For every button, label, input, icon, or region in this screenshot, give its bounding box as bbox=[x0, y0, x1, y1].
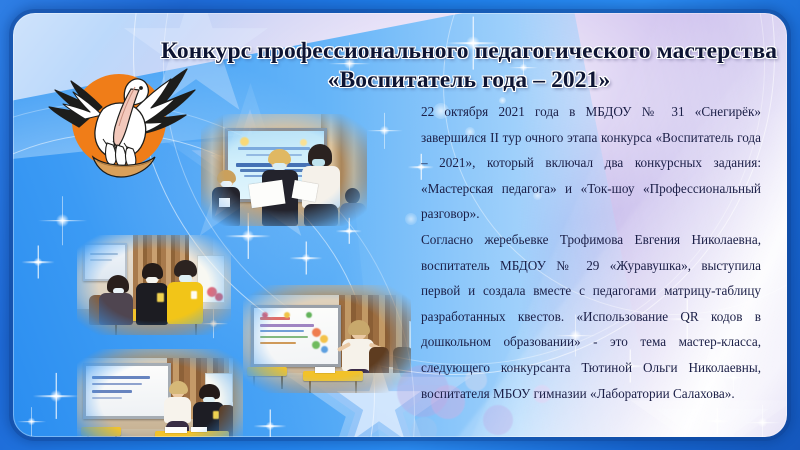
poster-slide: Пеликан Конкурс профессионального педаго… bbox=[0, 0, 800, 450]
slide-frame-bevel bbox=[9, 9, 791, 441]
